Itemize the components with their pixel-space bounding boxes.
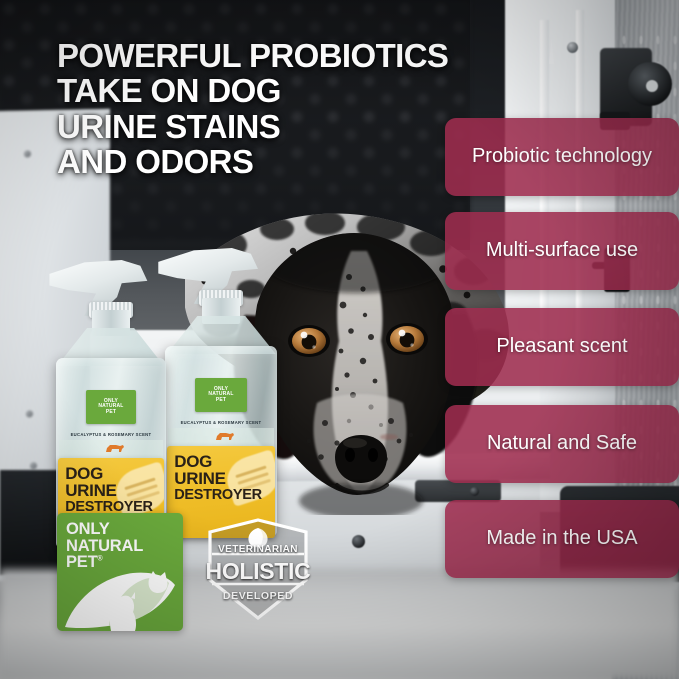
headline: POWERFUL PROBIOTICS TAKE ON DOG URINE ST… <box>57 38 487 179</box>
product-bottle-back: ONLYNATURALPET EUCALYPTUS & ROSEMARY SCE… <box>165 250 277 550</box>
brand-line-2: NATURAL <box>66 538 143 555</box>
headline-line-1: POWERFUL PROBIOTICS <box>57 38 487 73</box>
feature-badge-label: Made in the USA <box>486 527 637 551</box>
feature-badge-3: Pleasant scent <box>445 308 679 386</box>
bottle-brand-mark: ONLYNATURALPET <box>86 390 137 424</box>
holistic-badge: VETERINARIAN HOLISTIC DEVELOPED <box>200 518 316 622</box>
bottle-tagline: EUCALYPTUS & ROSEMARY SCENT <box>174 420 268 425</box>
crate-bolt <box>352 535 365 548</box>
product-advertisement-image: ONLYNATURALPET EUCALYPTUS & ROSEMARY SCE… <box>0 0 679 679</box>
bottle-tagline: EUCALYPTUS & ROSEMARY SCENT <box>65 432 157 437</box>
brand-leaf-pet-icon <box>57 559 183 631</box>
brand-line-1: ONLY <box>66 521 143 538</box>
bottle-dog-icon <box>214 430 236 442</box>
brand-logo: ONLY NATURAL PET® <box>57 513 183 631</box>
bottle-product-name: DOG URINE DESTROYER <box>65 465 153 514</box>
bottle-product-name: DOG URINE DESTROYER <box>174 453 262 502</box>
feature-badge-label: Multi-surface use <box>486 239 638 263</box>
bottle-brand-text: ONLYNATURALPET <box>208 387 233 403</box>
feature-badge-2: Multi-surface use <box>445 212 679 290</box>
feature-badge-label: Natural and Safe <box>487 432 637 456</box>
feature-badge-4: Natural and Safe <box>445 405 679 483</box>
bottle-brand-mark: ONLYNATURALPET <box>195 378 247 412</box>
feature-badge-label: Probiotic technology <box>472 145 652 169</box>
feature-badge-label: Pleasant scent <box>496 335 627 359</box>
headline-line-3: URINE STAINS <box>57 109 487 144</box>
bottle-brand-text: ONLYNATURALPET <box>98 399 123 415</box>
headline-line-2: TAKE ON DOG <box>57 73 487 108</box>
holistic-bottom-text: DEVELOPED <box>200 590 316 602</box>
headline-line-4: AND ODORS <box>57 144 487 179</box>
feature-badge-5: Made in the USA <box>445 500 679 578</box>
holistic-main-text: HOLISTIC <box>200 558 316 585</box>
holistic-top-text: VETERINARIAN <box>200 544 316 555</box>
bottle-dog-icon <box>104 442 126 454</box>
